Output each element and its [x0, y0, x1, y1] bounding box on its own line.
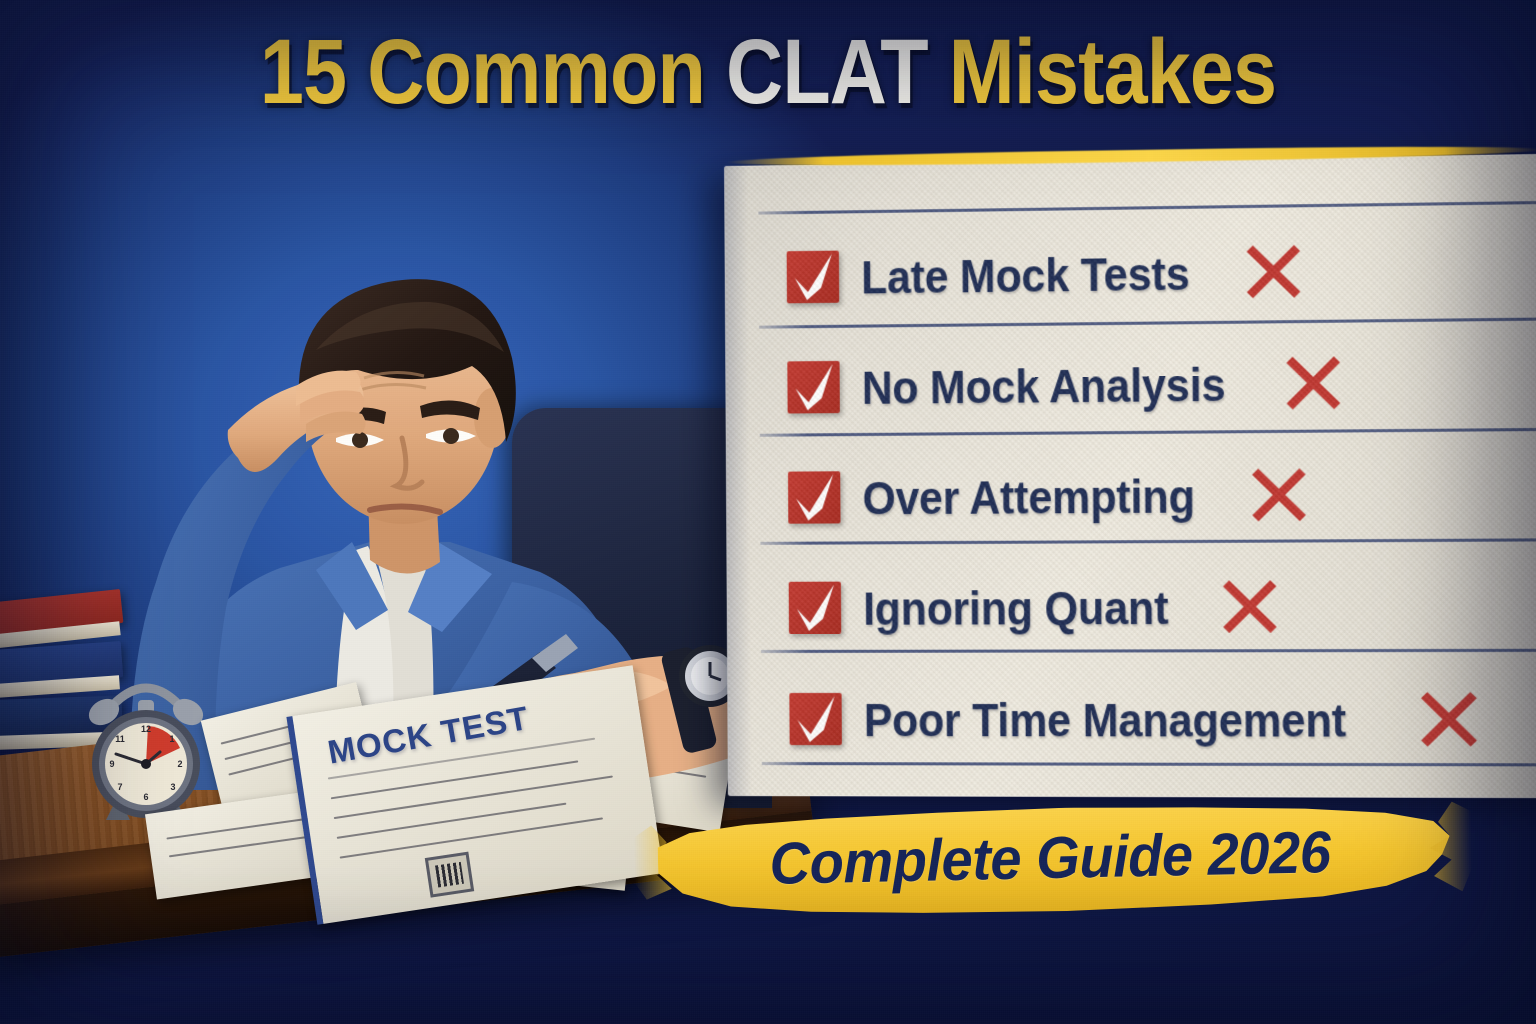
checklist-item-label: Poor Time Management [864, 691, 1347, 747]
checklist-item[interactable]: Late Mock Tests [787, 238, 1536, 308]
checklist-item[interactable]: Poor Time Management [789, 688, 1536, 751]
rule-line [760, 428, 1536, 437]
svg-text:1: 1 [169, 734, 174, 744]
svg-text:7: 7 [117, 782, 122, 792]
checklist-item[interactable]: Over Attempting [788, 463, 1536, 528]
checklist-item-label: Over Attempting [862, 467, 1195, 524]
svg-text:12: 12 [141, 724, 151, 734]
title-word-clat: CLAT [726, 21, 949, 123]
title-count: 15 [260, 21, 367, 123]
checkmark-icon[interactable] [789, 693, 842, 745]
alarm-clock: 1212 367 911 [78, 668, 214, 828]
checklist-item[interactable]: Ignoring Quant [789, 575, 1536, 638]
cross-icon [1248, 464, 1310, 525]
rule-line [758, 201, 1536, 215]
page-title: 15 Common CLAT Mistakes [108, 24, 1429, 121]
svg-text:9: 9 [109, 759, 114, 769]
checkmark-icon[interactable] [787, 251, 840, 304]
checkmark-icon[interactable] [789, 582, 842, 634]
svg-text:3: 3 [170, 782, 175, 792]
cross-icon [1417, 688, 1482, 751]
rule-line [761, 649, 1536, 653]
checklist-item[interactable]: No Mock Analysis [787, 350, 1536, 417]
mock-test-label: MOCK TEST [325, 699, 532, 772]
banner-label: Complete Guide 2026 [669, 792, 1431, 924]
checklist-item-label: No Mock Analysis [862, 356, 1226, 415]
notepad-left-shadow [724, 166, 752, 796]
bottom-banner: Complete Guide 2026 [649, 792, 1451, 925]
cross-icon [1219, 576, 1281, 637]
svg-text:11: 11 [115, 734, 125, 744]
cross-icon [1243, 241, 1305, 303]
svg-text:6: 6 [143, 792, 148, 802]
title-word-mistakes: Mistakes [949, 21, 1276, 123]
checklist-item-label: Late Mock Tests [861, 245, 1190, 304]
cross-icon [1283, 352, 1345, 414]
checkmark-icon[interactable] [788, 471, 841, 523]
title-word-common: Common [367, 21, 726, 123]
book-red [0, 589, 123, 637]
rule-line [762, 762, 1536, 766]
checkmark-icon[interactable] [787, 361, 840, 414]
rule-line [759, 317, 1536, 328]
checklist-notepad: Late Mock Tests No Mock Analysis Over At… [724, 153, 1536, 798]
rule-line [760, 538, 1536, 545]
poster-canvas: 1212 367 911 MOCK [0, 0, 1536, 1024]
svg-text:2: 2 [177, 759, 182, 769]
barcode-box [425, 852, 474, 898]
checklist-item-label: Ignoring Quant [863, 579, 1168, 635]
